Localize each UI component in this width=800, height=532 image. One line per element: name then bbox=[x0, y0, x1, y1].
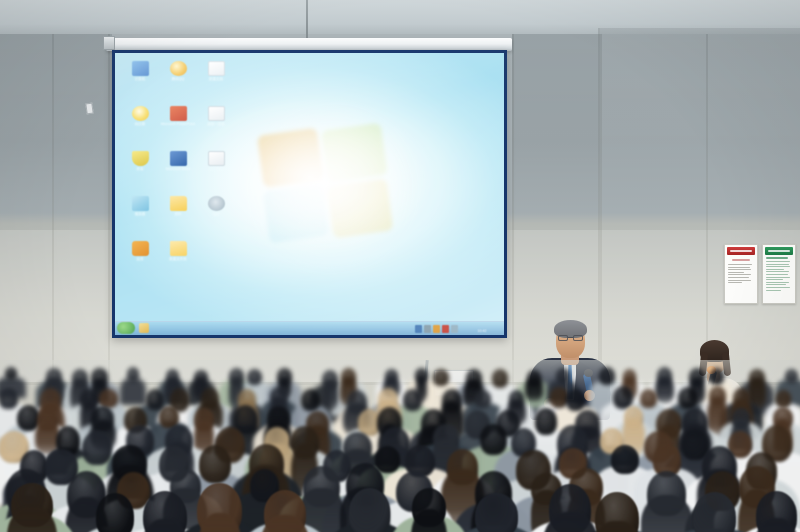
audience-member-head bbox=[82, 431, 112, 465]
notice-board bbox=[724, 244, 796, 304]
audience-member-head bbox=[710, 368, 724, 385]
quick-launch-icon[interactable] bbox=[139, 323, 149, 333]
audience-member-head bbox=[785, 369, 797, 383]
audience-member-head bbox=[492, 369, 508, 387]
eyeglasses-icon bbox=[558, 335, 583, 341]
audience-member-head bbox=[5, 367, 17, 380]
antivirus-icon[interactable] bbox=[442, 325, 449, 333]
wall-panel-shadow-mid bbox=[512, 34, 600, 230]
projection-screen[interactable]: 计算机 向日葵 杀毒 播放器 应用 腾讯QQ Microsoft PowerPo… bbox=[112, 50, 507, 338]
audience-member-head bbox=[611, 445, 639, 475]
audience-member-head bbox=[433, 369, 450, 387]
screen-sheen bbox=[115, 53, 504, 335]
audience-member-head bbox=[146, 389, 164, 409]
audience-member-head bbox=[556, 368, 569, 384]
poster-body-green bbox=[765, 255, 793, 301]
taskbar-clock[interactable]: 10:42 bbox=[463, 329, 501, 334]
network-icon[interactable] bbox=[415, 325, 422, 333]
audience-member-head bbox=[301, 389, 320, 411]
audience-member-head bbox=[678, 387, 698, 409]
wall-panel-shadow-right bbox=[600, 28, 800, 230]
notice-poster-red[interactable] bbox=[724, 244, 758, 304]
audience-member-head bbox=[127, 367, 139, 381]
input-method-icon[interactable] bbox=[451, 325, 458, 333]
audience-member-head bbox=[475, 493, 518, 532]
audience-member-head bbox=[566, 389, 585, 411]
audience-member-head bbox=[599, 367, 615, 385]
audience-member-head bbox=[99, 389, 117, 409]
lecture-hall-photo: 计算机 向日葵 杀毒 播放器 应用 腾讯QQ Microsoft PowerPo… bbox=[0, 0, 800, 532]
wall-panel-shadow-left bbox=[0, 34, 112, 230]
audience-member-long-hair bbox=[525, 378, 542, 400]
poster-body-red bbox=[727, 255, 755, 301]
poster-header-green bbox=[765, 247, 793, 255]
volume-icon[interactable] bbox=[424, 325, 431, 333]
audience-member-head bbox=[199, 445, 231, 483]
audience bbox=[0, 360, 800, 532]
system-tray[interactable] bbox=[415, 325, 458, 333]
audience-member-head bbox=[776, 390, 792, 408]
shield-icon[interactable] bbox=[433, 325, 440, 333]
audience-member-head bbox=[640, 389, 657, 408]
start-button[interactable] bbox=[117, 322, 135, 334]
projected-desktop[interactable]: 计算机 向日葵 杀毒 播放器 应用 腾讯QQ Microsoft PowerPo… bbox=[115, 53, 504, 335]
audience-member bbox=[120, 378, 146, 405]
audience-member-head bbox=[480, 424, 507, 454]
audience-member-head bbox=[403, 389, 422, 411]
audience-member-head bbox=[0, 388, 18, 409]
poster-header-red bbox=[727, 247, 755, 255]
taskbar[interactable]: 10:42 bbox=[115, 321, 504, 335]
audience-member-long-hair bbox=[323, 380, 338, 410]
audience-member-head bbox=[475, 390, 491, 408]
audience-member-head bbox=[349, 488, 391, 532]
audience-member-long-hair bbox=[655, 377, 674, 402]
audience-member-head bbox=[247, 369, 262, 386]
wall-outlet-icon bbox=[85, 103, 93, 115]
roller-end-cap bbox=[103, 36, 115, 50]
audience-member-head bbox=[535, 408, 557, 435]
notice-poster-green[interactable] bbox=[762, 244, 796, 304]
